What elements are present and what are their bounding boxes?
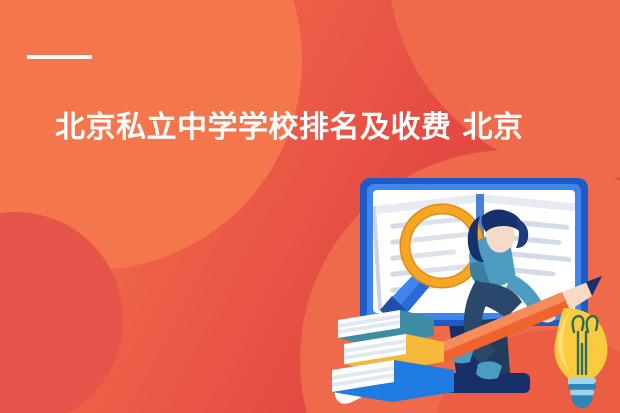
title-divider-rule [27, 55, 92, 59]
background-blob-bottom-left [0, 212, 123, 413]
banner: 北京私立中学学校排名及收费 北京 [0, 0, 620, 413]
lightbulb-icon [555, 308, 608, 408]
page-title: 北京私立中学学校排名及收费 北京 [55, 108, 615, 148]
background-blob-top-right [388, 0, 620, 178]
study-search-illustration [330, 168, 620, 413]
